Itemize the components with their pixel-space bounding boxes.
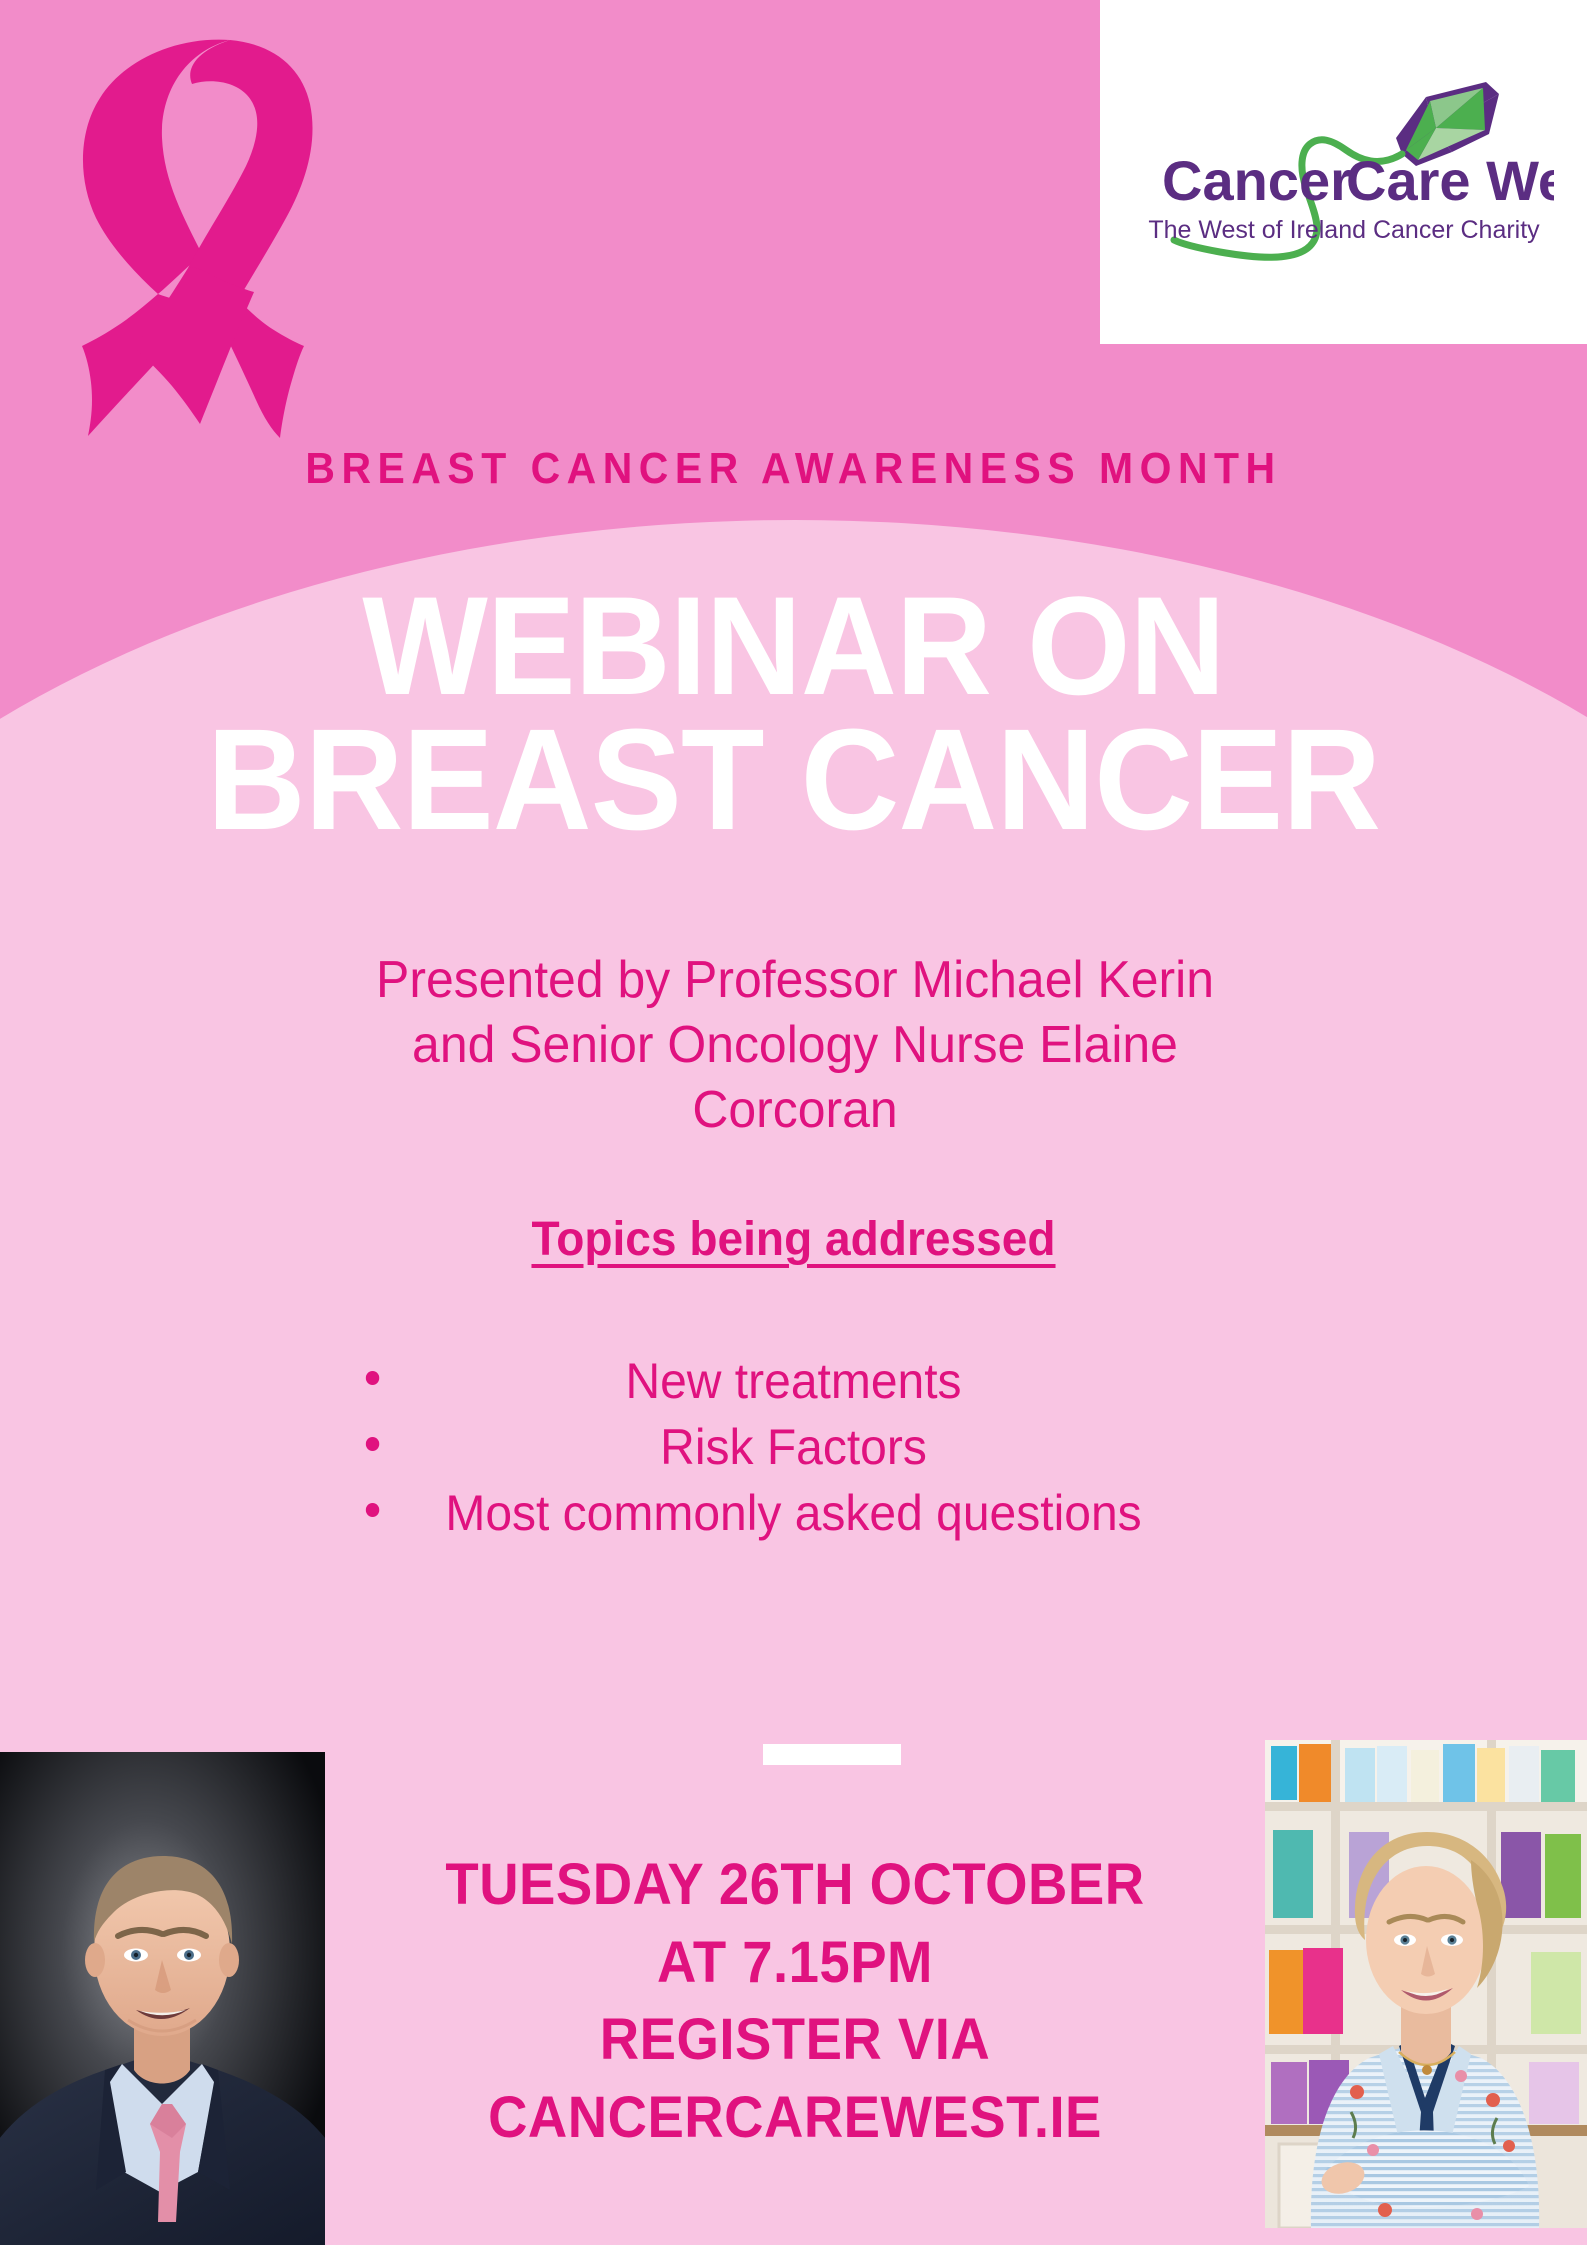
logo-wordmark-part2: Care West: [1346, 149, 1554, 212]
list-item: Risk Factors: [32, 1414, 1556, 1480]
list-item-label: Most commonly asked questions: [445, 1485, 1141, 1541]
logo-wordmark-part1: Cancer: [1162, 149, 1352, 212]
topics-list: New treatments Risk Factors Most commonl…: [0, 1348, 1587, 1546]
list-item-label: Risk Factors: [660, 1419, 927, 1475]
page-title-line-2: BREAST CANCER: [40, 712, 1548, 847]
poster-canvas: Cancer Care West The West of Ireland Can…: [0, 0, 1587, 2245]
awareness-month-heading: BREAST CANCER AWARENESS MONTH: [56, 444, 1532, 494]
list-item: New treatments: [32, 1348, 1556, 1414]
presenters-text: Presented by Professor Michael Kerin and…: [349, 948, 1242, 1143]
event-time: AT 7.15PM: [358, 1924, 1232, 2002]
register-website[interactable]: CANCERCAREWEST.IE: [358, 2079, 1232, 2157]
topics-heading-label: Topics being addressed: [531, 1213, 1055, 1266]
logo-plate: Cancer Care West The West of Ireland Can…: [1100, 0, 1587, 344]
bullet-icon: [366, 1437, 379, 1451]
bullet-icon: [366, 1371, 379, 1385]
list-item: Most commonly asked questions: [32, 1480, 1556, 1546]
page-title: WEBINAR ON BREAST CANCER: [40, 580, 1548, 847]
divider-bar: [763, 1744, 901, 1765]
event-info: TUESDAY 26TH OCTOBER AT 7.15PM REGISTER …: [358, 1846, 1232, 2157]
logo-tagline: The West of Ireland Cancer Charity: [1148, 216, 1540, 244]
pink-awareness-ribbon: [34, 22, 354, 442]
register-label: REGISTER VIA: [358, 2001, 1232, 2079]
bullet-icon: [366, 1503, 379, 1517]
photo-professor-michael-kerin: [0, 1752, 325, 2245]
photo-nurse-elaine-corcoran: [1265, 1740, 1587, 2228]
page-title-line-1: WEBINAR ON: [40, 580, 1548, 712]
event-date: TUESDAY 26TH OCTOBER: [358, 1846, 1232, 1924]
topics-heading: Topics being addressed: [32, 1212, 1556, 1267]
cancer-care-west-logo: Cancer Care West The West of Ireland Can…: [1134, 42, 1554, 302]
list-item-label: New treatments: [625, 1353, 961, 1409]
